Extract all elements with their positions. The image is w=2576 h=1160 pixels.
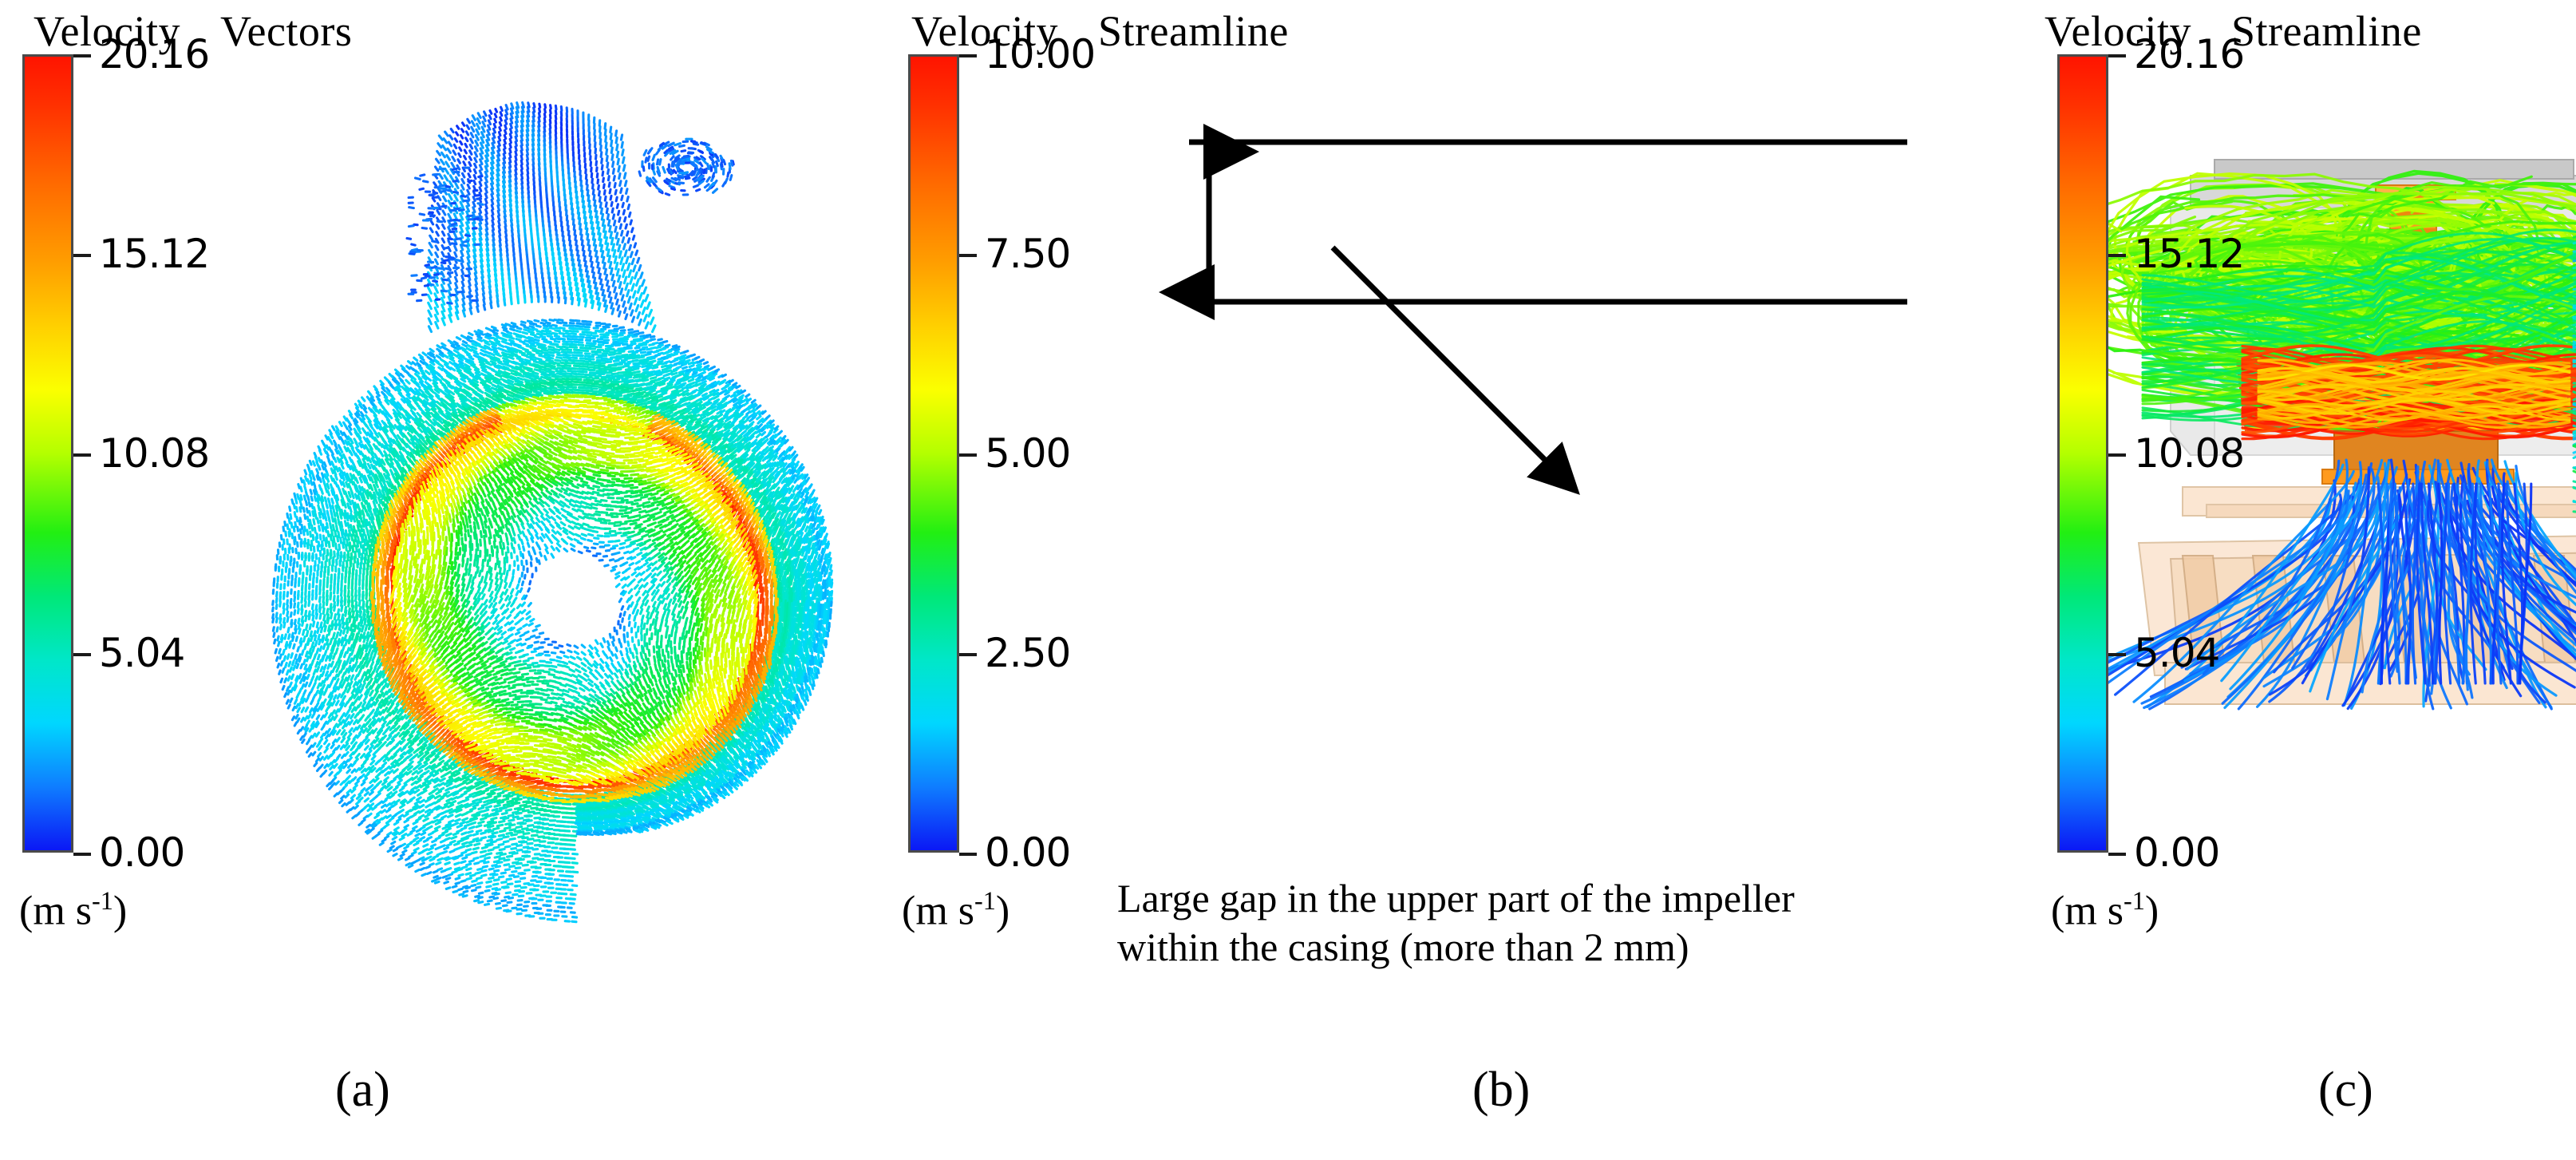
panel-c-tick-4 — [2108, 853, 2126, 856]
panel-a-tick-label-1: 15.12 — [99, 234, 209, 274]
panel-b-title: Velocity Streamline — [911, 6, 1289, 56]
velocity-vector-plot-volute — [239, 48, 846, 966]
panel-b-tick-1 — [959, 254, 977, 257]
panel-a-tick-label-3: 5.04 — [99, 633, 184, 673]
gap-annotation-text: Large gap in the upper part of the impel… — [1117, 874, 1795, 972]
panel-c-tick-1 — [2108, 254, 2126, 257]
panel-b-tick-label-1: 7.50 — [985, 234, 1070, 274]
panel-b-colorbar-unit: (m s-1) — [902, 886, 1009, 934]
panel-a-colorbar-gradient — [22, 54, 73, 853]
panel-c-tick-label-0: 20.16 — [2134, 34, 2244, 74]
panel-a-tick-4 — [73, 853, 91, 856]
panel-c-title-word-2: Streamline — [2231, 6, 2422, 56]
panel-c-tick-0 — [2108, 54, 2126, 57]
panel-b-unit-exponent: -1 — [974, 886, 996, 915]
panel-b-tick-3 — [959, 653, 977, 656]
panel-a-letter: (a) — [335, 1062, 390, 1118]
panel-a-tick-label-2: 10.08 — [99, 434, 209, 473]
panel-b-unit-close: ) — [996, 888, 1009, 933]
panel-b-title-word-2: Streamline — [1098, 6, 1289, 56]
panel-a-tick-label-0: 20.16 — [99, 34, 209, 74]
panel-c-unit-exponent: -1 — [2124, 886, 2145, 915]
panel-a-tick-0 — [73, 54, 91, 57]
panel-b-tick-2 — [959, 453, 977, 457]
panel-b-tick-label-0: 10.00 — [985, 34, 1095, 74]
panel-a-unit-exponent: -1 — [92, 886, 113, 915]
panel-c: Velocity Streamline 20.16 15.12 10.08 5.… — [2035, 0, 2576, 1160]
gap-dimension-annotation — [1077, 120, 1915, 503]
panel-c-unit-main: (m s — [2051, 888, 2124, 933]
panel-a-unit-close: ) — [113, 888, 127, 933]
panel-b-tick-4 — [959, 853, 977, 856]
panel-c-colorbar-gradient — [2057, 54, 2108, 853]
panel-c-letter: (c) — [2318, 1062, 2373, 1118]
panel-b-tick-label-4: 0.00 — [985, 833, 1070, 873]
panel-a-tick-label-4: 0.00 — [99, 833, 184, 873]
panel-c-colorbar: 20.16 15.12 10.08 5.04 0.00 — [2057, 54, 2297, 853]
panel-a-colorbar-unit: (m s-1) — [19, 886, 127, 934]
panel-c-unit-close: ) — [2145, 888, 2159, 933]
panel-a-colorbar: 20.16 15.12 10.08 5.04 0.00 — [22, 54, 262, 853]
panel-a-tick-2 — [73, 453, 91, 457]
panel-b-letter: (b) — [1472, 1062, 1530, 1118]
panel-c-tick-label-4: 0.00 — [2134, 833, 2219, 873]
panel-c-tick-label-2: 10.08 — [2134, 434, 2244, 473]
panel-c-tick-label-3: 5.04 — [2134, 633, 2219, 673]
gap-annotation-line-2: within the casing (more than 2 mm) — [1117, 923, 1795, 972]
panel-b-unit-main: (m s — [902, 888, 974, 933]
panel-c-tick-3 — [2108, 653, 2126, 656]
panel-b-colorbar-gradient — [908, 54, 959, 853]
panel-b-tick-label-3: 2.50 — [985, 633, 1070, 673]
panel-a-tick-3 — [73, 653, 91, 656]
panel-b-tick-0 — [959, 54, 977, 57]
panel-b-tick-label-2: 5.00 — [985, 434, 1070, 473]
panel-c-tick-label-1: 15.12 — [2134, 234, 2244, 274]
panel-c-colorbar-unit: (m s-1) — [2051, 886, 2159, 934]
panel-c-tick-2 — [2108, 453, 2126, 457]
panel-b: Velocity Streamline 10.00 7.50 5.00 2.50… — [878, 0, 2035, 1160]
panel-a-unit-main: (m s — [19, 888, 92, 933]
annotation-leader-arrow — [1333, 247, 1572, 487]
panel-a: Velocity Vectors 20.16 15.12 10.08 5.04 … — [0, 0, 878, 1160]
gap-annotation-line-1: Large gap in the upper part of the impel… — [1117, 874, 1795, 923]
panel-a-tick-1 — [73, 254, 91, 257]
